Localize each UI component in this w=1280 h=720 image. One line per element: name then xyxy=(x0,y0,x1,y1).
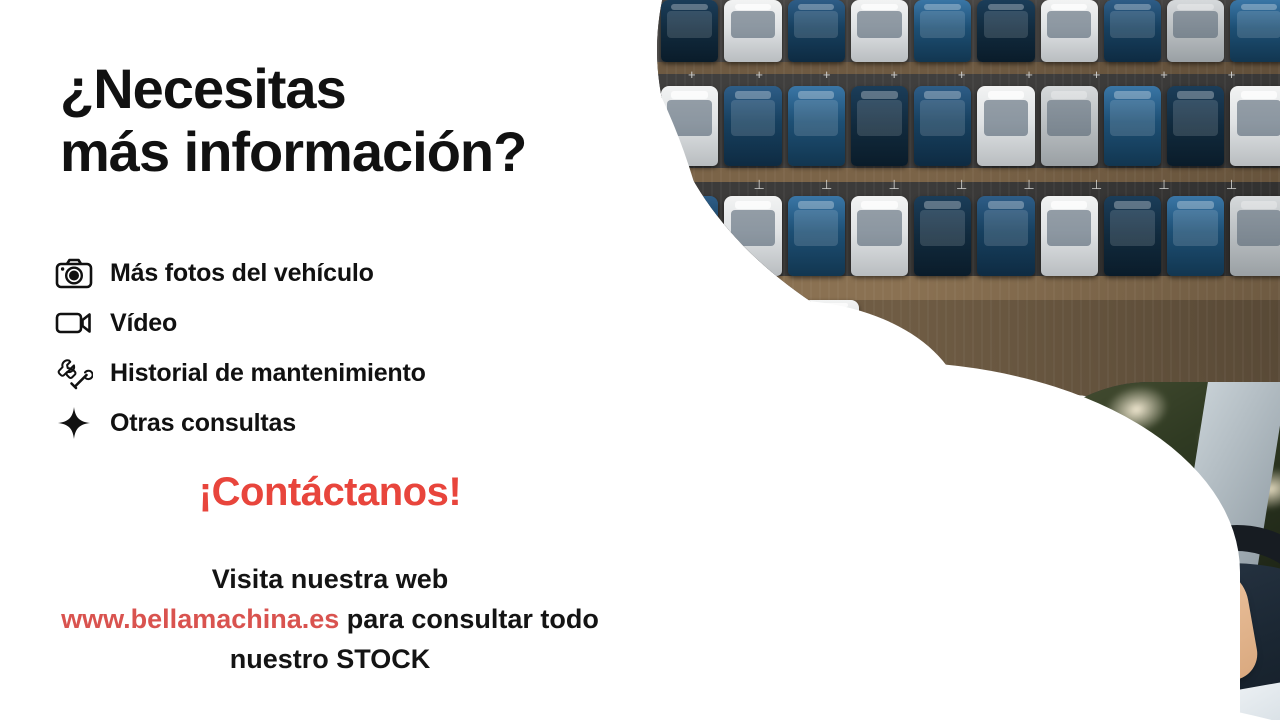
web-line-3: nuestro STOCK xyxy=(0,640,660,680)
list-item: Vídeo xyxy=(52,298,652,348)
wrench-tools-icon xyxy=(52,354,96,392)
video-camera-icon xyxy=(52,304,96,342)
list-item: Más fotos del vehículo xyxy=(52,248,652,298)
headline-line-2: más información? xyxy=(60,121,526,184)
camera-icon xyxy=(52,254,96,292)
benefit-label: Más fotos del vehículo xyxy=(110,259,374,288)
cta-text: ¡Contáctanos! xyxy=(199,470,461,514)
promo-content: ¿Necesitas más información? Más fotos de… xyxy=(0,0,680,720)
web-line-2: www.bellamachina.es para consultar todo xyxy=(0,600,660,640)
page-title: ¿Necesitas más información? xyxy=(60,58,526,183)
car-row-2 xyxy=(657,86,1280,166)
list-item: Otras consultas xyxy=(52,398,652,448)
list-item: Historial de mantenimiento xyxy=(52,348,652,398)
web-line-2-suffix: para consultar todo xyxy=(339,604,599,634)
website-callout: Visita nuestra web www.bellamachina.es p… xyxy=(0,560,660,680)
benefit-label: Otras consultas xyxy=(110,409,296,438)
contact-cta: ¡Contáctanos! xyxy=(0,470,660,515)
stall-markers-row-2: ⊥⊥⊥ ⊥⊥⊥ ⊥⊥⊥ ⊥⊥⊥ ⊥⊥⊥ xyxy=(657,178,1280,191)
benefit-label: Vídeo xyxy=(110,309,177,338)
web-line-1: Visita nuestra web xyxy=(0,560,660,600)
car-row-3 xyxy=(657,196,1280,276)
stall-markers-row-1: +++ +++ +++ +++ +++ xyxy=(657,68,1280,81)
sparkle-icon xyxy=(52,404,96,442)
website-url[interactable]: www.bellamachina.es xyxy=(61,604,339,634)
benefits-list: Más fotos del vehículo Vídeo xyxy=(52,248,652,448)
benefit-label: Historial de mantenimiento xyxy=(110,359,426,388)
headline-line-1: ¿Necesitas xyxy=(60,57,346,120)
car-row-1 xyxy=(657,0,1280,62)
